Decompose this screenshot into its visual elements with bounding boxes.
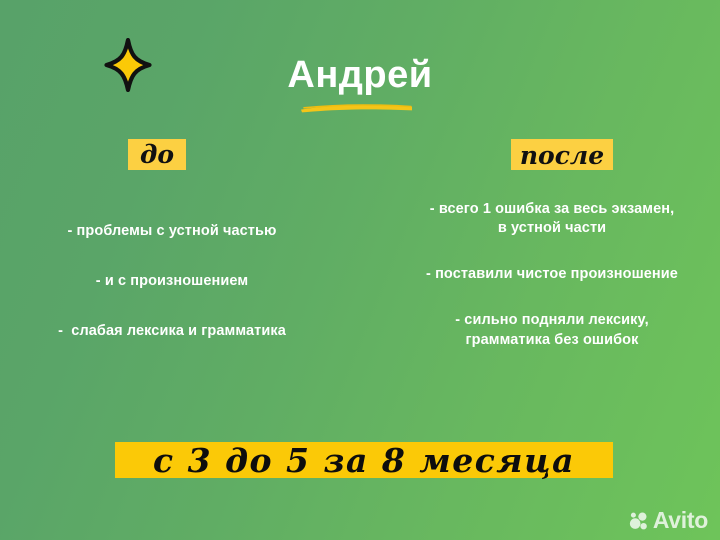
brush-underline-icon <box>299 101 414 113</box>
page-title: Андрей <box>0 56 720 94</box>
list-item: - слабая лексика и грамматика <box>12 322 332 341</box>
list-item: - поставили чистое произношение <box>392 265 712 284</box>
avito-watermark: Avito <box>629 509 708 532</box>
chip-before: до <box>128 139 186 170</box>
chip-after: после <box>511 139 613 170</box>
after-column: - всего 1 ошибка за весь экзамен, в устн… <box>392 200 712 350</box>
list-item: - всего 1 ошибка за весь экзамен, в устн… <box>392 200 712 238</box>
list-item: - сильно подняли лексику, грамматика без… <box>392 311 712 349</box>
before-column: - проблемы с устной частью - и с произно… <box>12 222 332 341</box>
slide-canvas: Андрей до после - проблемы с устной част… <box>0 0 720 540</box>
list-item: - проблемы с устной частью <box>12 222 332 241</box>
avito-dots-icon <box>629 511 649 531</box>
avito-brand-text: Avito <box>653 509 708 532</box>
list-item: - и с произношением <box>12 272 332 291</box>
result-banner-text: с 3 до 5 за 8 месяца <box>115 437 613 483</box>
